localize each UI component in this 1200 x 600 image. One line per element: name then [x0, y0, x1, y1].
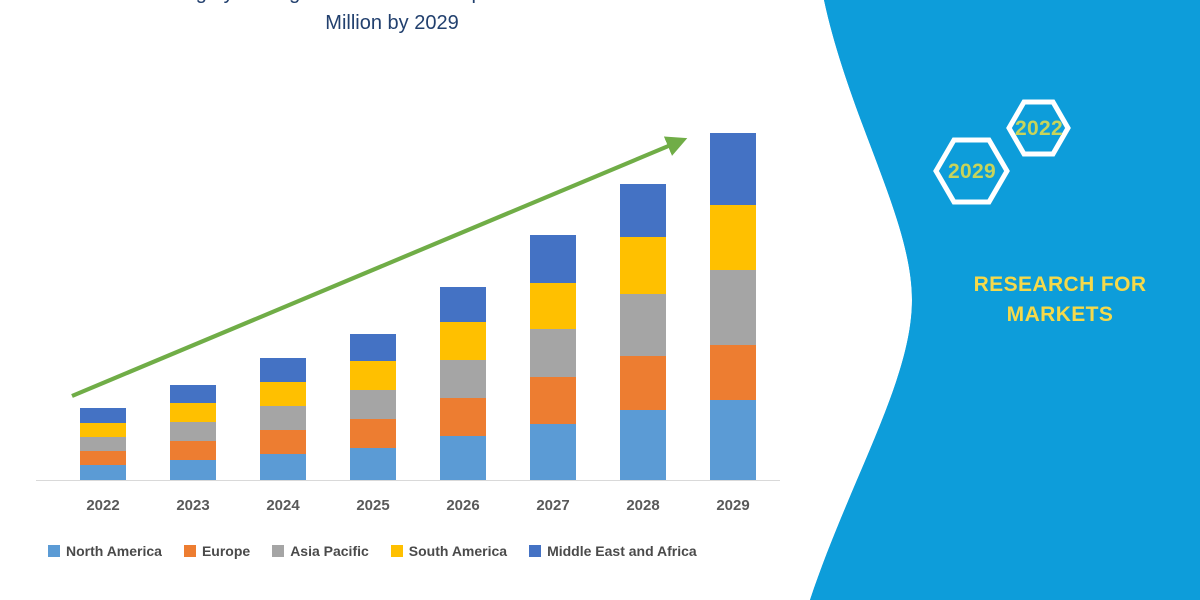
- infographic-canvas: Global Asset Integrity Management Market…: [0, 0, 1200, 600]
- growth-arrow-icon: [0, 0, 790, 600]
- legend-swatch-icon: [48, 545, 60, 557]
- legend-label: Europe: [202, 543, 250, 559]
- legend-label: South America: [409, 543, 507, 559]
- legend-swatch-icon: [272, 545, 284, 557]
- hex-badges: 2029 2022: [920, 88, 1120, 218]
- legend-label: Middle East and Africa: [547, 543, 697, 559]
- legend-item-south-america[interactable]: South America: [391, 543, 507, 559]
- legend-item-north-america[interactable]: North America: [48, 543, 162, 559]
- brand-line-2: MARKETS: [920, 300, 1200, 330]
- chart-legend: North AmericaEuropeAsia PacificSouth Ame…: [48, 543, 778, 559]
- legend-label: North America: [66, 543, 162, 559]
- chart-plot-area: 20222023202420252026202720282029: [0, 0, 790, 600]
- legend-item-asia-pacific[interactable]: Asia Pacific: [272, 543, 369, 559]
- brand-name: RESEARCH FOR MARKETS: [920, 270, 1200, 330]
- legend-item-middle-east-and-africa[interactable]: Middle East and Africa: [529, 543, 697, 559]
- legend-item-europe[interactable]: Europe: [184, 543, 250, 559]
- legend-label: Asia Pacific: [290, 543, 369, 559]
- hexagon-outline-icon: [920, 88, 1120, 218]
- hex-badge-label-2029: 2029: [938, 160, 1006, 184]
- legend-swatch-icon: [529, 545, 541, 557]
- hex-badge-label-2022: 2022: [1006, 117, 1072, 141]
- brand-line-1: RESEARCH FOR: [920, 270, 1200, 300]
- legend-swatch-icon: [391, 545, 403, 557]
- legend-swatch-icon: [184, 545, 196, 557]
